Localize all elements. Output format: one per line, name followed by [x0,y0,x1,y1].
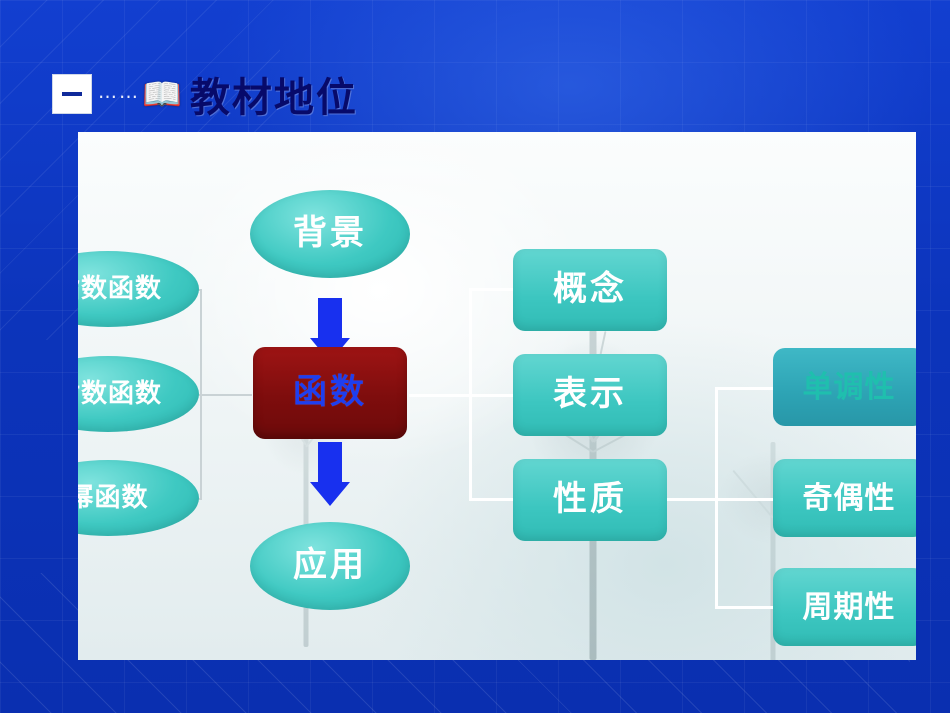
node-function[interactable]: 函数 [253,347,407,439]
node-background-label: 背景 [293,215,367,252]
connector-far-right-top-stub [715,387,773,390]
slide-title-row: …… 📖 教材地位 [52,63,358,125]
connector-far-right-bottom-stub [715,606,773,609]
slide: …… 📖 教材地位 [0,0,950,713]
node-exponential-function-label: 指数函数 [78,275,162,304]
node-concept-label: 概念 [553,271,627,308]
node-power-function-label: 幂函数 [78,484,149,513]
node-application[interactable]: 应用 [250,522,410,610]
connector-far-right-mid-stub [715,498,773,501]
connector-left-to-center [200,394,252,396]
node-monotonicity-label: 单调性 [803,371,896,404]
connector-center-to-right [409,394,471,397]
connector-right-top-stub [469,288,513,291]
page-title: 教材地位 [190,65,358,123]
node-periodicity[interactable]: 周期性 [773,568,916,646]
diagram-canvas: 背景 函数 应用 指数函数 对数函数 幂函数 概念 表示 性质 [78,132,916,660]
node-monotonicity[interactable]: 单调性 [773,348,916,426]
node-property[interactable]: 性质 [513,459,667,541]
node-parity-label: 奇偶性 [803,482,896,515]
node-periodicity-label: 周期性 [803,591,896,624]
node-background[interactable]: 背景 [250,190,410,278]
bullet-square-icon [52,74,92,114]
title-dots: …… [98,83,140,106]
node-representation-label: 表示 [553,376,627,413]
connector-right-mid-stub [469,394,513,397]
node-property-label: 性质 [553,481,627,518]
node-concept[interactable]: 概念 [513,249,667,331]
open-book-icon: 📖 [142,78,182,110]
connector-right-bottom-stub [469,498,513,501]
connector-property-to-far-right [666,498,718,501]
node-logarithmic-function-label: 对数函数 [78,380,162,409]
node-representation[interactable]: 表示 [513,354,667,436]
node-function-label: 函数 [293,374,367,411]
node-application-label: 应用 [293,547,367,584]
node-parity[interactable]: 奇偶性 [773,459,916,537]
